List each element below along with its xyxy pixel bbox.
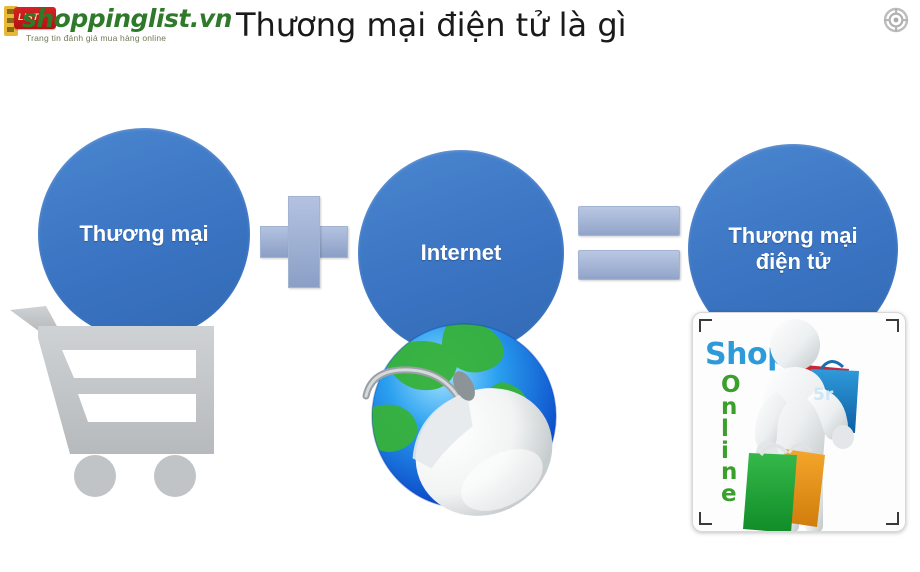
equals-operator-icon <box>578 206 680 280</box>
globe-mouse-icon <box>352 312 602 532</box>
equals-bottom-bar <box>578 250 680 280</box>
plus-operator-icon <box>260 196 348 288</box>
shopping-cart-icon <box>0 298 230 498</box>
logo-wordmark: shoppinglist.vn <box>22 4 232 33</box>
diagram-node-commerce-label: Thương mại <box>53 221 234 247</box>
target-crosshair-icon[interactable] <box>882 6 910 34</box>
logo-tagline: Trang tin đánh giá mua hàng online <box>26 33 166 43</box>
shopper-figure-illustration <box>693 313 906 532</box>
page-title: Thương mại điện tử là gì <box>236 6 716 44</box>
diagram-node-internet-label: Internet <box>395 240 528 266</box>
equals-top-bar <box>578 206 680 236</box>
plus-vertical-bar <box>288 196 320 288</box>
blue-bag-label: 5r <box>813 385 833 405</box>
shop-online-card[interactable]: Shop O n l i n e 5r <box>692 312 906 532</box>
diagram-node-ecommerce-label: Thương mại điện tử <box>688 223 898 274</box>
site-logo[interactable]: LIST shoppinglist.vn Trang tin đánh giá … <box>4 2 204 50</box>
